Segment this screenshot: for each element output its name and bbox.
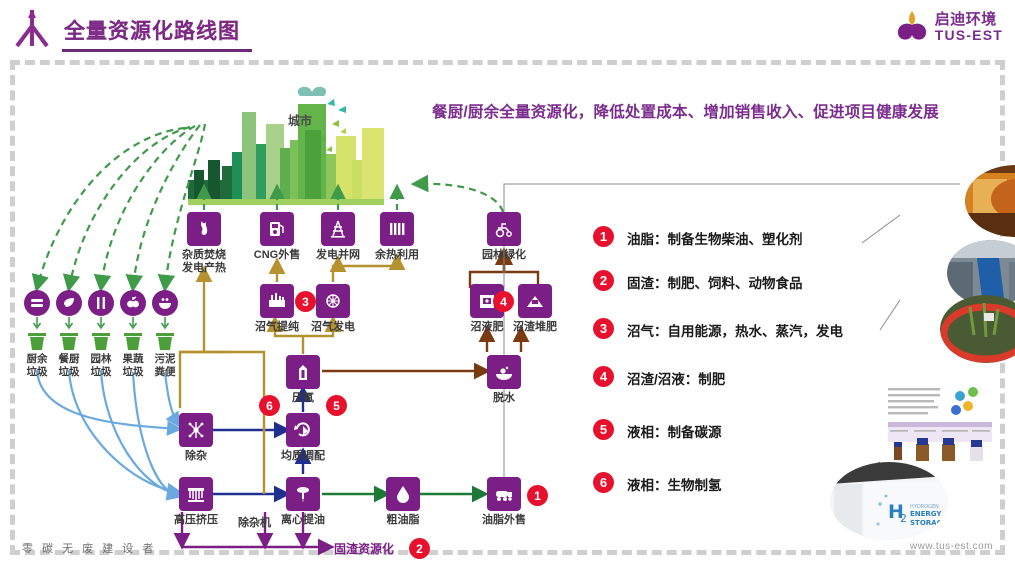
- legend-text-1: 油脂：制备生物柴油、塑化剂: [627, 228, 803, 248]
- biogas-plant-icon: [260, 284, 294, 318]
- legend-badge-1: 1: [593, 226, 614, 247]
- node-dewater[interactable]: 脱水: [472, 355, 536, 405]
- source-label: 果蔬 垃圾: [123, 353, 144, 378]
- node-cng-sale[interactable]: CNG外售: [245, 212, 309, 262]
- photo-hydrogen-storage: H 2 HYDROGEN ENERGY STORAGE: [830, 462, 948, 540]
- svg-text:ENERGY: ENERGY: [910, 510, 942, 518]
- bin-icon: [58, 331, 80, 351]
- node-oil-sale[interactable]: 油脂外售: [472, 477, 536, 527]
- node-label: 油脂外售: [482, 514, 526, 527]
- node-anaerobic[interactable]: 厌氧: [271, 355, 335, 405]
- node-high-pressure[interactable]: 高压挤压: [164, 477, 228, 527]
- legend-badge-3: 3: [593, 318, 614, 339]
- node-label: 高压挤压: [174, 514, 218, 527]
- dewatering-icon: [487, 355, 521, 389]
- source-item-sludge-waste[interactable]: 污泥 粪便: [143, 290, 187, 378]
- svg-text:2: 2: [900, 512, 907, 525]
- down-arrow-icon: [32, 317, 42, 330]
- label-solid-residue: 固渣资源化: [334, 540, 394, 557]
- source-label: 餐厨 垃圾: [59, 353, 80, 378]
- legend-text-4: 沼渣/沼液：制肥: [627, 368, 725, 388]
- source-label: 污泥 粪便: [155, 353, 176, 378]
- node-label: CNG外售: [254, 249, 300, 262]
- node-label: 发电并网: [316, 249, 360, 262]
- node-landscaping[interactable]: 园林绿化: [472, 212, 536, 262]
- node-sorting[interactable]: 除杂: [164, 413, 228, 463]
- radiator-icon: [380, 212, 414, 246]
- mixer-icon: [286, 413, 320, 447]
- node-label: 余热利用: [375, 249, 419, 262]
- node-label: 离心提油: [281, 514, 325, 527]
- flame-icon: [187, 212, 221, 246]
- node-label: 厌氧: [292, 392, 314, 405]
- press-icon: [179, 477, 213, 511]
- badge-5: 5: [327, 396, 346, 415]
- generator-icon: [316, 284, 350, 318]
- node-grid-power[interactable]: 发电并网: [306, 212, 370, 262]
- label-sorter-machine: 除杂机: [238, 514, 271, 530]
- tanker-truck-icon: [487, 477, 521, 511]
- digester-tank-icon: [286, 355, 320, 389]
- compost-pile-icon: [518, 284, 552, 318]
- oil-drop-icon: [386, 477, 420, 511]
- down-arrow-icon: [64, 317, 74, 330]
- node-incineration[interactable]: 杂质焚烧 发电产热: [172, 212, 236, 274]
- node-label: 除杂: [185, 450, 207, 463]
- badge-3: 3: [296, 292, 315, 311]
- node-centrifuge-oil[interactable]: 离心提油: [271, 477, 335, 527]
- bin-icon: [122, 331, 144, 351]
- node-label: 粗油脂: [387, 514, 420, 527]
- footer-url[interactable]: www.tus-est.com: [910, 541, 993, 552]
- node-label: 园林绿化: [482, 249, 526, 262]
- node-waste-heat[interactable]: 余热利用: [365, 212, 429, 262]
- legend-badge-4: 4: [593, 366, 614, 387]
- bin-icon: [26, 331, 48, 351]
- node-label: 沼液肥: [471, 321, 504, 334]
- power-tower-icon: [321, 212, 355, 246]
- legend-badge-6: 6: [593, 472, 614, 493]
- legend-text-3: 沼气：自用能源，热水、蒸汽，发电: [627, 320, 843, 340]
- tractor-icon: [487, 212, 521, 246]
- down-arrow-icon: [160, 317, 170, 330]
- sludge-waste-icon: [152, 290, 178, 316]
- fuel-pump-icon: [260, 212, 294, 246]
- centrifuge-icon: [286, 477, 320, 511]
- photo-lab-report: [880, 380, 1000, 465]
- node-label: 杂质焚烧 发电产热: [182, 249, 226, 274]
- legend-text-6: 液相：生物制氢: [627, 474, 722, 494]
- badge-2: 2: [410, 539, 429, 558]
- node-label: 均质调配: [281, 450, 325, 463]
- footer-slogan: 零 碳 无 废 建 设 者: [22, 540, 156, 556]
- node-label: 沼渣堆肥: [513, 321, 557, 334]
- bin-icon: [154, 331, 176, 351]
- node-label: 沼气提纯: [255, 321, 299, 334]
- legend-badge-5: 5: [593, 419, 614, 440]
- source-label: 园林 垃圾: [91, 353, 112, 378]
- node-label: 脱水: [493, 392, 515, 405]
- separator-icon: [179, 413, 213, 447]
- badge-4: 4: [494, 292, 513, 311]
- badge-1: 1: [528, 486, 547, 505]
- node-crude-oil[interactable]: 粗油脂: [371, 477, 435, 527]
- down-arrow-icon: [96, 317, 106, 330]
- node-label: 沼气发电: [311, 321, 355, 334]
- badge-6: 6: [260, 396, 279, 415]
- node-homogenize[interactable]: 均质调配: [271, 413, 335, 463]
- legend-text-5: 液相：制备碳源: [627, 421, 722, 441]
- legend-text-2: 固渣：制肥、饲料、动物食品: [627, 272, 803, 292]
- legend-badge-2: 2: [593, 270, 614, 291]
- bin-icon: [90, 331, 112, 351]
- down-arrow-icon: [128, 317, 138, 330]
- node-residue-compost[interactable]: 沼渣堆肥: [503, 284, 567, 334]
- source-label: 厨余 垃圾: [27, 353, 48, 378]
